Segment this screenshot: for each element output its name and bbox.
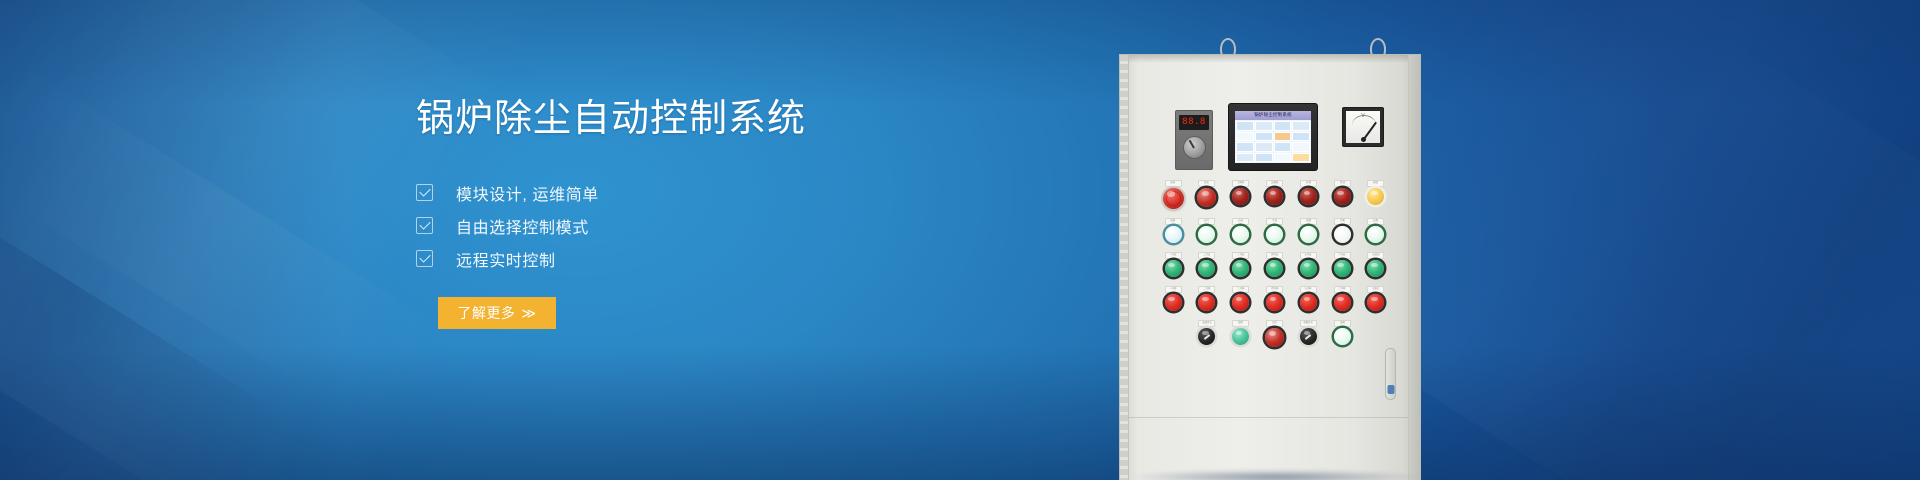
button-label-text: 电源 bbox=[1171, 220, 1176, 222]
button-label-tag: 备用 bbox=[1334, 320, 1351, 327]
button-label-text: 报警 bbox=[1374, 182, 1379, 184]
row-emergency: 急停复位引风机送风机炉排除渣报警 bbox=[1162, 180, 1387, 209]
button-label-tag: 远程 bbox=[1367, 218, 1384, 225]
button-label-text: 转换开关 bbox=[1304, 322, 1313, 324]
button-cap[interactable] bbox=[1300, 328, 1317, 345]
button-cap[interactable] bbox=[1198, 328, 1215, 345]
panel-button[interactable]: 手动 bbox=[1263, 218, 1285, 243]
button-cap[interactable] bbox=[1232, 294, 1249, 311]
meter-display: 88.8 bbox=[1179, 115, 1209, 130]
button-label-tag: 待机 bbox=[1334, 218, 1351, 225]
hmi-cell bbox=[1292, 153, 1310, 163]
feature-label: 远程实时控制 bbox=[456, 247, 556, 271]
button-label-tag: 二号启 bbox=[1198, 252, 1215, 259]
button-cap[interactable] bbox=[1198, 226, 1215, 243]
button-label-tag: 自动 bbox=[1232, 218, 1249, 225]
button-label-text: 就绪 bbox=[1306, 220, 1311, 222]
panel-button-grid: 急停复位引风机送风机炉排除渣报警电源运行自动手动就绪待机远程一号启二号启三号启四… bbox=[1162, 180, 1387, 356]
button-label-tag: 试灯 bbox=[1266, 320, 1283, 327]
hmi-row bbox=[1236, 142, 1310, 152]
hmi-cell bbox=[1236, 153, 1254, 163]
button-label-text: 三号启 bbox=[1237, 254, 1244, 256]
panel-button[interactable]: 就绪 bbox=[1297, 218, 1319, 243]
hmi-cell bbox=[1292, 142, 1310, 152]
panel-button[interactable]: 一号启 bbox=[1162, 252, 1184, 277]
panel-button[interactable]: 电源 bbox=[1162, 218, 1184, 243]
panel-button[interactable]: 二号停 bbox=[1196, 286, 1218, 311]
button-cap[interactable] bbox=[1367, 226, 1384, 243]
button-label-text: 引风机 bbox=[1237, 182, 1244, 184]
button-label-tag: 照明 bbox=[1232, 320, 1249, 327]
button-label-text: 远程 bbox=[1374, 220, 1379, 222]
button-cap[interactable] bbox=[1300, 226, 1317, 243]
feature-item-0: 模块设计, 运维简单 bbox=[416, 176, 976, 209]
panel-button[interactable]: 除渣 bbox=[1331, 180, 1353, 209]
button-label-text: 备用 bbox=[1340, 322, 1345, 324]
button-label-text: 六号启 bbox=[1339, 254, 1346, 256]
panel-button[interactable]: 待机 bbox=[1331, 218, 1353, 243]
button-cap[interactable] bbox=[1165, 260, 1182, 277]
hmi-cell bbox=[1255, 153, 1273, 163]
button-label-tag: 电源 bbox=[1165, 218, 1182, 225]
panel-button[interactable]: 三号启 bbox=[1230, 252, 1252, 277]
panel-button[interactable]: 试灯 bbox=[1263, 320, 1285, 347]
button-label-tag: 就绪 bbox=[1300, 218, 1317, 225]
hmi-cell bbox=[1292, 132, 1310, 142]
panel-button[interactable]: 复位 bbox=[1196, 180, 1218, 209]
button-label-tag: 二号停 bbox=[1198, 286, 1215, 293]
button-label-tag: 手动 bbox=[1266, 218, 1283, 225]
button-label-tag: 一号启 bbox=[1165, 252, 1182, 259]
button-label-text: 总停止 bbox=[1372, 288, 1379, 290]
panel-button[interactable]: 总启动 bbox=[1365, 252, 1387, 277]
button-label-text: 送风机 bbox=[1271, 182, 1278, 184]
button-label-tag: 总启动 bbox=[1367, 252, 1384, 259]
button-cap[interactable] bbox=[1300, 188, 1317, 205]
button-cap[interactable] bbox=[1266, 226, 1283, 243]
button-cap[interactable] bbox=[1163, 188, 1184, 209]
row-stop-red: 一号停二号停三号停四号停五号停六号停总停止 bbox=[1162, 286, 1387, 311]
panel-button[interactable]: 六号停 bbox=[1331, 286, 1353, 311]
hmi-cell bbox=[1292, 121, 1310, 131]
panel-button[interactable]: 照明 bbox=[1230, 320, 1252, 347]
hero-copy: 锅炉除尘自动控制系统 模块设计, 运维简单 自由选择控制模式 远程实时控制 了解… bbox=[416, 100, 976, 329]
button-label-text: 一号启 bbox=[1169, 254, 1176, 256]
button-label-text: 复位 bbox=[1204, 182, 1209, 184]
button-label-text: 除渣 bbox=[1340, 182, 1345, 184]
hmi-row bbox=[1236, 121, 1310, 131]
panel-button[interactable]: 引风机 bbox=[1230, 180, 1252, 209]
hmi-touchscreen[interactable]: 锅炉除尘控制系统 bbox=[1228, 103, 1318, 171]
panel-button[interactable]: 备用 bbox=[1331, 320, 1353, 347]
panel-button[interactable]: 五号停 bbox=[1297, 286, 1319, 311]
page-title: 锅炉除尘自动控制系统 bbox=[416, 100, 976, 138]
panel-button[interactable]: 转换开关 bbox=[1297, 320, 1319, 347]
button-cap[interactable] bbox=[1198, 294, 1215, 311]
hmi-cell bbox=[1274, 132, 1292, 142]
button-cap[interactable] bbox=[1300, 294, 1317, 311]
button-label-tag: 炉排 bbox=[1300, 180, 1317, 187]
button-cap[interactable] bbox=[1367, 260, 1384, 277]
panel-button[interactable]: 二号启 bbox=[1196, 252, 1218, 277]
button-label-text: 四号启 bbox=[1271, 254, 1278, 256]
button-label-text: 六号停 bbox=[1339, 288, 1346, 290]
button-label-tag: 三号启 bbox=[1232, 252, 1249, 259]
button-cap[interactable] bbox=[1266, 188, 1283, 205]
panel-button[interactable]: 远程 bbox=[1365, 218, 1387, 243]
button-cap[interactable] bbox=[1232, 328, 1249, 345]
button-label-text: 四号停 bbox=[1271, 288, 1278, 290]
panel-button[interactable]: 选择开关 bbox=[1196, 320, 1218, 347]
chevron-right-icon: ≫ bbox=[521, 305, 536, 322]
button-label-tag: 转换开关 bbox=[1300, 320, 1317, 327]
cabinet-door-seam bbox=[1129, 417, 1408, 418]
button-cap[interactable] bbox=[1334, 294, 1351, 311]
button-cap[interactable] bbox=[1266, 294, 1283, 311]
door-handle[interactable] bbox=[1385, 348, 1396, 400]
button-cap[interactable] bbox=[1334, 226, 1351, 243]
panel-button[interactable]: 四号停 bbox=[1263, 286, 1285, 311]
button-cap[interactable] bbox=[1266, 260, 1283, 277]
button-label-tag: 四号启 bbox=[1266, 252, 1283, 259]
button-label-text: 自动 bbox=[1238, 220, 1243, 222]
hmi-row bbox=[1236, 132, 1310, 142]
button-label-tag: 选择开关 bbox=[1198, 320, 1215, 327]
panel-button[interactable]: 急停 bbox=[1162, 180, 1184, 209]
button-label-tag: 复位 bbox=[1198, 180, 1215, 187]
button-label-tag: 一号停 bbox=[1165, 286, 1182, 293]
hero-banner: 锅炉除尘自动控制系统 模块设计, 运维简单 自由选择控制模式 远程实时控制 了解… bbox=[0, 0, 1920, 480]
panel-button[interactable]: 六号启 bbox=[1331, 252, 1353, 277]
button-label-tag: 引风机 bbox=[1232, 180, 1249, 187]
button-label-text: 手动 bbox=[1272, 220, 1277, 222]
hmi-data-grid bbox=[1235, 120, 1311, 163]
checkbox-icon bbox=[416, 250, 433, 267]
panel-button[interactable]: 一号停 bbox=[1162, 286, 1184, 311]
button-cap[interactable] bbox=[1334, 328, 1351, 345]
hmi-cell bbox=[1274, 153, 1292, 163]
button-label-tag: 五号启 bbox=[1300, 252, 1317, 259]
checkbox-icon bbox=[416, 217, 433, 234]
meter-knob[interactable] bbox=[1183, 136, 1206, 159]
cta-label: 了解更多 bbox=[457, 303, 515, 323]
row-start-green: 一号启二号启三号启四号启五号启六号启总启动 bbox=[1162, 252, 1387, 277]
feature-label: 模块设计, 运维简单 bbox=[456, 181, 599, 205]
meter-digits: 88.8 bbox=[1182, 118, 1206, 127]
panel-button[interactable]: 炉排 bbox=[1297, 180, 1319, 209]
hmi-cell bbox=[1255, 132, 1273, 142]
panel-button[interactable]: 总停止 bbox=[1365, 286, 1387, 311]
button-cap[interactable] bbox=[1198, 260, 1215, 277]
button-label-tag: 报警 bbox=[1367, 180, 1384, 187]
button-label-text: 照明 bbox=[1238, 322, 1243, 324]
button-label-text: 试灯 bbox=[1272, 322, 1277, 324]
button-cap[interactable] bbox=[1334, 188, 1351, 205]
analog-gauge: V bbox=[1342, 107, 1384, 147]
button-label-tag: 四号停 bbox=[1266, 286, 1283, 293]
button-label-text: 选择开关 bbox=[1202, 322, 1211, 324]
button-cap[interactable] bbox=[1197, 188, 1216, 207]
button-label-text: 运行 bbox=[1204, 220, 1209, 222]
hmi-cell bbox=[1274, 142, 1292, 152]
button-cap[interactable] bbox=[1232, 226, 1249, 243]
button-label-text: 三号停 bbox=[1237, 288, 1244, 290]
button-label-text: 总启动 bbox=[1372, 254, 1379, 256]
row-indicator-white: 电源运行自动手动就绪待机远程 bbox=[1162, 218, 1387, 243]
button-label-text: 五号启 bbox=[1305, 254, 1312, 256]
hmi-titlebar: 锅炉除尘控制系统 bbox=[1235, 111, 1311, 120]
cabinet-door-edge bbox=[1408, 55, 1420, 480]
button-label-tag: 六号启 bbox=[1334, 252, 1351, 259]
hmi-title: 锅炉除尘控制系统 bbox=[1254, 113, 1292, 118]
button-label-tag: 送风机 bbox=[1266, 180, 1283, 187]
feature-item-2: 远程实时控制 bbox=[416, 242, 976, 275]
button-cap[interactable] bbox=[1334, 260, 1351, 277]
button-label-text: 炉排 bbox=[1306, 182, 1311, 184]
hmi-cell bbox=[1236, 132, 1254, 142]
hmi-cell bbox=[1255, 121, 1273, 131]
hmi-cell bbox=[1255, 142, 1273, 152]
cabinet-hinge bbox=[1120, 55, 1129, 480]
checkbox-icon bbox=[416, 184, 433, 201]
button-label-text: 五号停 bbox=[1305, 288, 1312, 290]
button-cap[interactable] bbox=[1232, 188, 1249, 205]
panel-button[interactable]: 报警 bbox=[1365, 180, 1387, 209]
learn-more-button[interactable]: 了解更多 ≫ bbox=[438, 297, 556, 329]
button-label-tag: 总停止 bbox=[1367, 286, 1384, 293]
button-label-tag: 运行 bbox=[1198, 218, 1215, 225]
hmi-cell bbox=[1274, 121, 1292, 131]
button-cap[interactable] bbox=[1265, 328, 1284, 347]
cabinet-top-shade bbox=[1129, 55, 1408, 63]
cabinet-shadow bbox=[1130, 470, 1420, 480]
button-label-tag: 六号停 bbox=[1334, 286, 1351, 293]
button-label-text: 二号停 bbox=[1203, 288, 1210, 290]
gauge-hub bbox=[1361, 137, 1366, 142]
button-label-text: 二号启 bbox=[1203, 254, 1210, 256]
hmi-cell bbox=[1236, 142, 1254, 152]
feature-list: 模块设计, 运维简单 自由选择控制模式 远程实时控制 bbox=[416, 176, 976, 275]
feature-item-1: 自由选择控制模式 bbox=[416, 209, 976, 242]
hmi-cell bbox=[1236, 121, 1254, 131]
panel-button[interactable]: 四号启 bbox=[1263, 252, 1285, 277]
hmi-viewport: 锅炉除尘控制系统 bbox=[1235, 111, 1311, 163]
button-label-text: 急停 bbox=[1171, 182, 1176, 184]
panel-button[interactable]: 自动 bbox=[1230, 218, 1252, 243]
gauge-face: V bbox=[1346, 111, 1380, 143]
button-label-tag: 五号停 bbox=[1300, 286, 1317, 293]
feature-label: 自由选择控制模式 bbox=[456, 214, 589, 238]
button-cap[interactable] bbox=[1367, 188, 1384, 205]
button-cap[interactable] bbox=[1367, 294, 1384, 311]
button-label-text: 待机 bbox=[1340, 220, 1345, 222]
panel-button[interactable]: 三号停 bbox=[1230, 286, 1252, 311]
button-label-tag: 三号停 bbox=[1232, 286, 1249, 293]
button-cap[interactable] bbox=[1300, 260, 1317, 277]
door-lock-icon[interactable] bbox=[1387, 385, 1394, 394]
button-label-tag: 急停 bbox=[1165, 180, 1182, 187]
hmi-row bbox=[1236, 153, 1310, 163]
panel-button[interactable]: 运行 bbox=[1196, 218, 1218, 243]
digital-meter: 88.8 bbox=[1175, 110, 1213, 170]
control-cabinet-image: 88.8 锅炉除尘控制系统 bbox=[1120, 0, 1540, 480]
button-label-tag: 除渣 bbox=[1334, 180, 1351, 187]
panel-button[interactable]: 送风机 bbox=[1263, 180, 1285, 209]
button-cap[interactable] bbox=[1165, 294, 1182, 311]
button-label-text: 一号停 bbox=[1169, 288, 1176, 290]
row-selector: 选择开关照明试灯转换开关备用 bbox=[1162, 320, 1387, 347]
button-cap[interactable] bbox=[1165, 226, 1182, 243]
panel-button[interactable]: 五号启 bbox=[1297, 252, 1319, 277]
button-cap[interactable] bbox=[1232, 260, 1249, 277]
cabinet-body: 88.8 锅炉除尘控制系统 bbox=[1120, 55, 1420, 480]
